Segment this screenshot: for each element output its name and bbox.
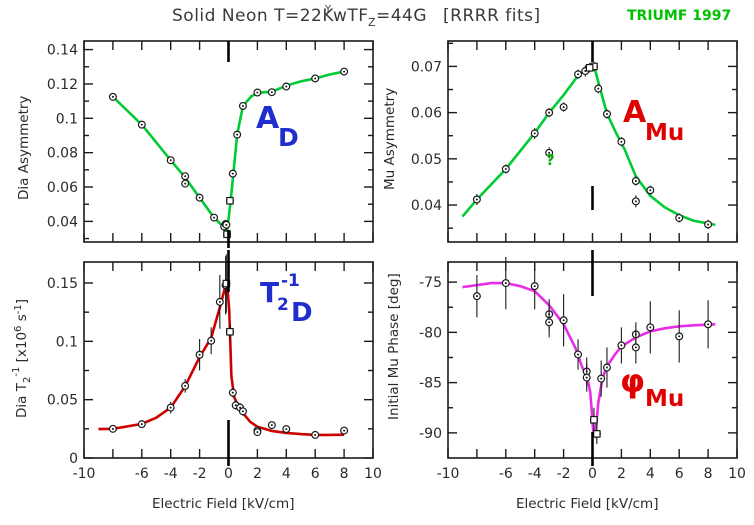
data-point (229, 170, 236, 177)
x-axis-label-right: Electric Field [kV/cm] (516, 496, 658, 512)
data-point (341, 68, 348, 75)
x-tick-label: -2 (557, 466, 571, 482)
y-tick-label: 0.08 (47, 146, 78, 162)
y-tick-label: 0.12 (47, 77, 78, 93)
data-point (268, 89, 275, 96)
annotation-T2-superscript: -1 (281, 271, 300, 291)
outlier-question-mark: ? (546, 151, 555, 169)
figure-root: Solid Neon T=22K Y wTF Z =44G [RRRR fits… (0, 0, 754, 525)
x-tick-label: 0 (224, 466, 233, 482)
marker-center (236, 134, 238, 136)
data-point (268, 422, 275, 429)
ylabel-post: ] (14, 299, 30, 304)
marker-center (476, 198, 478, 200)
marker-center (635, 200, 637, 202)
y-tick-label: 0.06 (411, 106, 442, 122)
marker-center (242, 105, 244, 107)
marker-center (678, 335, 680, 337)
triumf-stamp: TRIUMF 1997 (627, 8, 731, 24)
annotation-T2-subscript: 2 (277, 295, 289, 315)
y-tick-label: 0.06 (47, 180, 78, 196)
marker-center (256, 431, 258, 433)
marker-center (548, 112, 550, 114)
marker-center (314, 77, 316, 79)
x-tick-label: -2 (193, 466, 207, 482)
data-point (138, 121, 145, 128)
x-tick-label: -6 (499, 466, 513, 482)
x-tick-label: 8 (704, 466, 713, 482)
title-main: Solid Neon T=22K (172, 6, 334, 26)
marker-center (170, 159, 172, 161)
x-tick-label: 4 (282, 466, 291, 482)
marker-square (586, 65, 592, 71)
marker-center (225, 224, 227, 226)
annotation-Mu-subscript: Mu (645, 120, 684, 146)
y-tick-label: 0.1 (56, 334, 78, 350)
marker-center (170, 407, 172, 409)
annotation-D-subscript-t2: D (291, 298, 313, 328)
marker-center (476, 295, 478, 297)
data-point (211, 214, 218, 221)
data-point (312, 75, 319, 82)
y-tick-label: -85 (419, 376, 442, 392)
data-point (196, 194, 203, 201)
ylabel-mid: [x10 (14, 332, 30, 367)
data-point (254, 89, 261, 96)
x-tick-label: -10 (73, 466, 96, 482)
marker-center (505, 168, 507, 170)
marker-square (591, 417, 597, 423)
y-tick-label: -90 (419, 426, 442, 442)
y-tick-label: 0.14 (47, 43, 78, 59)
x-tick-label: 6 (311, 466, 320, 482)
x-tick-label: 2 (617, 466, 626, 482)
marker-center (184, 183, 186, 185)
marker-center (232, 173, 234, 175)
title-gamma-superscript: Y (324, 4, 332, 15)
marker-center (232, 392, 234, 394)
data-point (182, 173, 189, 180)
y-tick-label: 0.04 (47, 214, 78, 230)
svg-text:Dia T2-1 [x106 s-1]: Dia T2-1 [x106 s-1] (11, 299, 33, 418)
data-point (234, 131, 241, 138)
marker-center (184, 385, 186, 387)
annotation-phi-mu: φ (620, 362, 645, 400)
data-point (312, 432, 319, 439)
data-point (254, 429, 261, 436)
y-tick-label: 0.04 (411, 198, 442, 214)
annotation-D-subscript: D (278, 123, 299, 152)
ylabel-unitsup: -1 (13, 304, 24, 314)
marker-center (548, 321, 550, 323)
four-panel-figure: Solid Neon T=22K Y wTF Z =44G [RRRR fits… (0, 0, 754, 525)
marker-center (649, 326, 651, 328)
marker-center (285, 86, 287, 88)
annotation-A-mu: A (623, 95, 647, 130)
ylabel-sup: -1 (11, 367, 22, 377)
data-point (110, 93, 117, 100)
y-tick-label: 0.05 (47, 393, 78, 409)
marker-center (534, 132, 536, 134)
marker-center (271, 424, 273, 426)
x-tick-label: 8 (340, 466, 349, 482)
data-point (240, 103, 247, 110)
marker-center (285, 428, 287, 430)
data-point (240, 407, 247, 416)
marker-center (141, 423, 143, 425)
marker-center (597, 88, 599, 90)
x-tick-label: -10 (437, 466, 460, 482)
marker-center (271, 91, 273, 93)
marker-center (620, 141, 622, 143)
x-tick-label: 0 (588, 466, 597, 482)
marker-center (184, 175, 186, 177)
marker-center (343, 71, 345, 73)
title-fits: [RRRR fits] (443, 6, 541, 26)
marker-center (505, 282, 507, 284)
marker-center (242, 410, 244, 412)
y-axis-label-top-left: Dia Asymmetry (16, 96, 32, 200)
marker-center (620, 344, 622, 346)
marker-center (534, 285, 536, 287)
marker-center (649, 189, 651, 191)
marker-center (606, 367, 608, 369)
marker-center (635, 180, 637, 182)
y-axis-label-top-right: Mu Asymmetry (382, 88, 398, 190)
data-point (283, 83, 290, 90)
marker-center (707, 323, 709, 325)
marker-center (199, 197, 201, 199)
marker-center (707, 223, 709, 225)
ylabel-sub2: 2 (22, 377, 33, 383)
title-z-subscript: Z (368, 16, 376, 29)
marker-center (635, 346, 637, 348)
data-point (283, 426, 290, 433)
y-axis-label-bottom-left: Dia T2-1 [x106 s-1] (11, 299, 33, 418)
data-point (138, 421, 145, 428)
marker-center (563, 319, 565, 321)
marker-center (213, 217, 215, 219)
y-tick-label: 0.05 (411, 152, 442, 168)
marker-center (563, 106, 565, 108)
data-point (110, 425, 117, 432)
marker-center (678, 217, 680, 219)
marker-square (594, 431, 600, 437)
marker-center (586, 377, 588, 379)
marker-center (256, 92, 258, 94)
x-tick-label: 10 (364, 466, 382, 482)
marker-center (199, 354, 201, 356)
data-point (341, 427, 348, 434)
y-tick-label: 0 (69, 451, 78, 467)
x-tick-label: 10 (728, 466, 746, 482)
data-point (167, 157, 174, 164)
y-tick-label: 0.1 (56, 111, 78, 127)
marker-center (112, 96, 114, 98)
marker-center (141, 124, 143, 126)
marker-center (219, 301, 221, 303)
data-point (182, 180, 189, 187)
marker-center (210, 340, 212, 342)
y-tick-label: 0.15 (47, 276, 78, 292)
annotation-Mu-subscript-phase: Mu (645, 386, 684, 412)
marker-center (112, 428, 114, 430)
ylabel-unit: s (14, 314, 30, 325)
marker-square (227, 329, 233, 335)
marker-center (606, 113, 608, 115)
marker-center (577, 353, 579, 355)
x-tick-label: -6 (135, 466, 149, 482)
marker-center (577, 73, 579, 75)
marker-center (343, 430, 345, 432)
marker-center (314, 434, 316, 436)
annotation-A-dia: A (256, 101, 280, 136)
y-tick-label: 0.07 (411, 59, 442, 75)
marker-center (600, 378, 602, 380)
ylabel-pre: Dia T (14, 382, 30, 418)
x-tick-label: 4 (646, 466, 655, 482)
y-tick-label: -75 (419, 275, 442, 291)
x-axis-label-left: Electric Field [kV/cm] (152, 496, 294, 512)
y-tick-label: -80 (419, 325, 442, 341)
x-tick-label: -4 (528, 466, 542, 482)
marker-square (227, 198, 233, 204)
x-tick-label: 6 (675, 466, 684, 482)
x-tick-label: -4 (164, 466, 178, 482)
y-axis-label-bottom-right: Initial Mu Phase [deg] (386, 273, 402, 420)
data-point (223, 221, 230, 228)
x-tick-label: 2 (253, 466, 262, 482)
title-wtf: wTF (333, 6, 369, 26)
title-field-value: =44G (376, 6, 427, 26)
